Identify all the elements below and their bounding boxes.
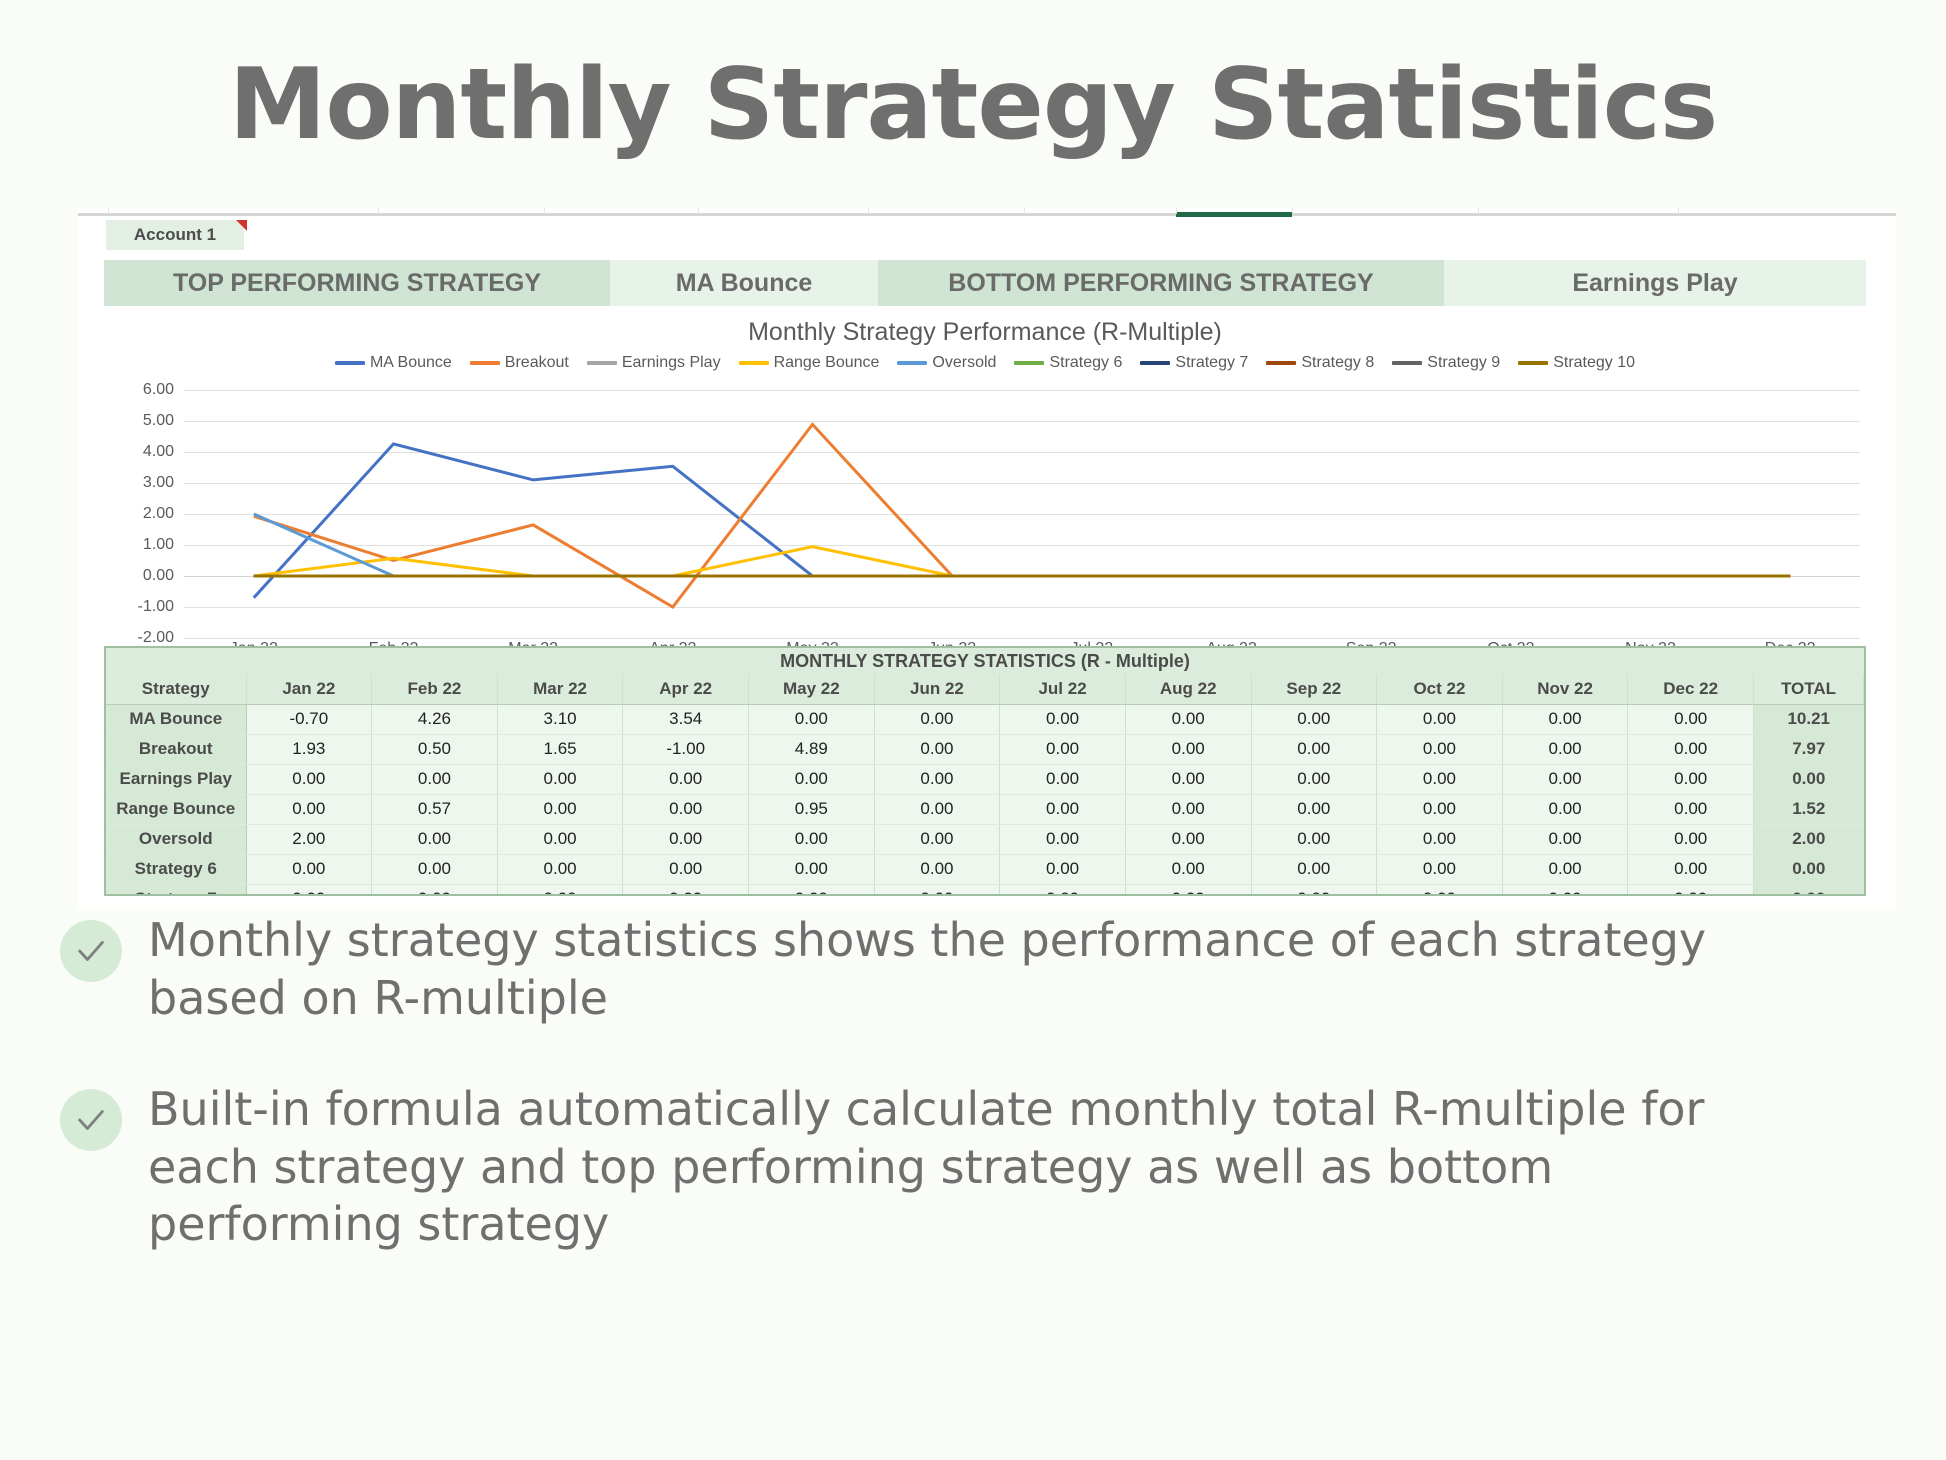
data-cell[interactable]: 0.00 xyxy=(1125,884,1251,896)
total-cell: 10.21 xyxy=(1754,704,1864,734)
data-cell[interactable]: 3.10 xyxy=(497,704,623,734)
legend-label: MA Bounce xyxy=(370,354,452,372)
bottom-performing-strategy-value: Earnings Play xyxy=(1444,260,1866,306)
data-cell[interactable]: 0.00 xyxy=(372,884,498,896)
data-cell[interactable]: 0.95 xyxy=(749,794,875,824)
strategy-performance-chart: Monthly Strategy Performance (R-Multiple… xyxy=(104,318,1866,636)
total-cell: 7.97 xyxy=(1754,734,1864,764)
data-cell[interactable]: 0.00 xyxy=(1502,704,1628,734)
legend-swatch-icon xyxy=(897,361,927,365)
y-tick-label: 3.00 xyxy=(143,474,174,492)
data-cell[interactable]: 0.00 xyxy=(1251,794,1377,824)
legend-label: Strategy 8 xyxy=(1301,354,1374,372)
row-header-cell: Earnings Play xyxy=(106,764,246,794)
data-cell[interactable]: 0.00 xyxy=(623,884,749,896)
table-row[interactable]: Strategy 60.000.000.000.000.000.000.000.… xyxy=(106,854,1864,884)
data-cell[interactable]: 0.00 xyxy=(874,854,1000,884)
bullet-text: Monthly strategy statistics shows the pe… xyxy=(148,912,1788,1027)
stats-table-banner: MONTHLY STRATEGY STATISTICS (R - Multipl… xyxy=(106,648,1864,674)
data-cell[interactable]: 0.00 xyxy=(874,884,1000,896)
data-cell[interactable]: 1.65 xyxy=(497,734,623,764)
legend-item-strategy-10: Strategy 10 xyxy=(1518,354,1635,372)
data-cell[interactable]: 0.00 xyxy=(1628,764,1754,794)
data-cell[interactable]: 0.00 xyxy=(1502,734,1628,764)
top-performing-strategy-value: MA Bounce xyxy=(610,260,878,306)
data-cell[interactable]: 0.00 xyxy=(1502,854,1628,884)
column-header[interactable]: Aug 22 xyxy=(1125,674,1251,704)
stats-grid: StrategyJan 22Feb 22Mar 22Apr 22May 22Ju… xyxy=(106,674,1864,896)
data-cell[interactable]: 0.00 xyxy=(1377,884,1503,896)
legend-swatch-icon xyxy=(1266,361,1296,365)
data-cell[interactable]: 0.00 xyxy=(623,824,749,854)
column-header[interactable]: Sep 22 xyxy=(1251,674,1377,704)
column-header[interactable]: Jul 22 xyxy=(1000,674,1126,704)
data-cell[interactable]: 0.00 xyxy=(246,884,372,896)
legend-item-oversold: Oversold xyxy=(897,354,996,372)
data-cell[interactable]: 0.00 xyxy=(1000,794,1126,824)
data-cell[interactable]: 0.00 xyxy=(623,794,749,824)
legend-label: Strategy 6 xyxy=(1049,354,1122,372)
data-cell[interactable]: 0.00 xyxy=(372,764,498,794)
data-cell[interactable]: 0.00 xyxy=(749,704,875,734)
legend-swatch-icon xyxy=(470,361,500,365)
table-row[interactable]: MA Bounce-0.704.263.103.540.000.000.000.… xyxy=(106,704,1864,734)
data-cell[interactable]: 0.00 xyxy=(1125,704,1251,734)
data-cell[interactable]: 4.26 xyxy=(372,704,498,734)
data-cell[interactable]: 0.00 xyxy=(874,764,1000,794)
row-header-cell: MA Bounce xyxy=(106,704,246,734)
data-cell[interactable]: 4.89 xyxy=(749,734,875,764)
data-cell[interactable]: 0.00 xyxy=(497,884,623,896)
row-header-cell: Strategy 7 xyxy=(106,884,246,896)
row-header-cell: Breakout xyxy=(106,734,246,764)
data-cell[interactable]: 0.00 xyxy=(1377,704,1503,734)
legend-label: Earnings Play xyxy=(622,354,721,372)
column-header[interactable]: May 22 xyxy=(749,674,875,704)
data-cell[interactable]: 0.00 xyxy=(372,854,498,884)
bottom-performing-strategy-label: BOTTOM PERFORMING STRATEGY xyxy=(878,260,1444,306)
total-cell: 1.52 xyxy=(1754,794,1864,824)
data-cell[interactable]: 0.00 xyxy=(1502,794,1628,824)
slide-root: Monthly Strategy Statistics Account 1 TO… xyxy=(0,0,1946,1460)
data-cell[interactable]: 0.00 xyxy=(1628,854,1754,884)
legend-label: Oversold xyxy=(932,354,996,372)
data-cell[interactable]: 0.00 xyxy=(1000,854,1126,884)
bullet-list: Monthly strategy statistics shows the pe… xyxy=(60,912,1890,1308)
data-cell[interactable]: 0.00 xyxy=(1000,824,1126,854)
data-cell[interactable]: 0.00 xyxy=(1628,884,1754,896)
legend-label: Strategy 10 xyxy=(1553,354,1635,372)
legend-item-earnings-play: Earnings Play xyxy=(587,354,721,372)
data-cell[interactable]: 0.00 xyxy=(874,734,1000,764)
data-cell[interactable]: 0.00 xyxy=(1125,734,1251,764)
legend-swatch-icon xyxy=(739,361,769,365)
legend-label: Range Bounce xyxy=(774,354,880,372)
table-header-row: StrategyJan 22Feb 22Mar 22Apr 22May 22Ju… xyxy=(106,674,1864,704)
column-header[interactable]: Jun 22 xyxy=(874,674,1000,704)
legend-label: Strategy 7 xyxy=(1175,354,1248,372)
chart-plot-area: 6.005.004.003.002.001.000.00-1.00-2.00 J… xyxy=(104,390,1866,638)
data-cell[interactable]: 0.00 xyxy=(246,794,372,824)
data-cell[interactable]: 0.00 xyxy=(1628,704,1754,734)
data-cell[interactable]: 0.00 xyxy=(1251,854,1377,884)
gridline xyxy=(184,638,1860,639)
legend-swatch-icon xyxy=(587,361,617,365)
data-cell[interactable]: 0.00 xyxy=(1377,824,1503,854)
legend-item-strategy-8: Strategy 8 xyxy=(1266,354,1374,372)
data-cell[interactable]: 0.00 xyxy=(1502,884,1628,896)
data-cell[interactable]: 0.00 xyxy=(1125,824,1251,854)
legend-item-strategy-6: Strategy 6 xyxy=(1014,354,1122,372)
chart-title: Monthly Strategy Performance (R-Multiple… xyxy=(104,318,1866,347)
spreadsheet-screenshot: Account 1 TOP PERFORMING STRATEGY MA Bou… xyxy=(78,208,1896,908)
column-header[interactable]: Jan 22 xyxy=(246,674,372,704)
data-cell[interactable]: 2.00 xyxy=(246,824,372,854)
data-cell[interactable]: -1.00 xyxy=(623,734,749,764)
data-cell[interactable]: 0.00 xyxy=(1251,704,1377,734)
data-cell[interactable]: 0.00 xyxy=(749,764,875,794)
column-header[interactable]: Strategy xyxy=(106,674,246,704)
legend-label: Breakout xyxy=(505,354,569,372)
data-cell[interactable]: 0.00 xyxy=(1377,854,1503,884)
data-cell[interactable]: 0.00 xyxy=(1251,764,1377,794)
data-cell[interactable]: 0.00 xyxy=(1377,794,1503,824)
data-cell[interactable]: 0.00 xyxy=(1000,734,1126,764)
column-header[interactable]: Nov 22 xyxy=(1502,674,1628,704)
bullet-text: Built-in formula automatically calculate… xyxy=(148,1081,1788,1254)
data-cell[interactable]: 0.00 xyxy=(246,764,372,794)
legend-swatch-icon xyxy=(1014,361,1044,365)
bullet-item: Built-in formula automatically calculate… xyxy=(60,1081,1890,1254)
data-cell[interactable]: 0.00 xyxy=(874,794,1000,824)
table-body: MA Bounce-0.704.263.103.540.000.000.000.… xyxy=(106,704,1864,896)
y-tick-label: 4.00 xyxy=(143,443,174,461)
legend-swatch-icon xyxy=(1140,361,1170,365)
data-cell[interactable]: 0.00 xyxy=(1628,734,1754,764)
column-header[interactable]: TOTAL xyxy=(1754,674,1864,704)
data-cell[interactable]: 0.00 xyxy=(749,824,875,854)
check-icon xyxy=(60,1089,122,1151)
legend-item-breakout: Breakout xyxy=(470,354,569,372)
monthly-strategy-statistics-table: MONTHLY STRATEGY STATISTICS (R - Multipl… xyxy=(104,646,1866,896)
row-header-cell: Oversold xyxy=(106,824,246,854)
top-performing-strategy-label: TOP PERFORMING STRATEGY xyxy=(104,260,610,306)
data-cell[interactable]: -0.70 xyxy=(246,704,372,734)
row-header-cell: Range Bounce xyxy=(106,794,246,824)
total-cell: 0.00 xyxy=(1754,764,1864,794)
data-cell[interactable]: 0.00 xyxy=(749,884,875,896)
kpi-banner-row: TOP PERFORMING STRATEGY MA Bounce BOTTOM… xyxy=(104,260,1866,306)
data-cell[interactable]: 0.00 xyxy=(1502,764,1628,794)
data-cell[interactable]: 0.00 xyxy=(1125,854,1251,884)
data-cell[interactable]: 0.00 xyxy=(1377,764,1503,794)
data-cell[interactable]: 0.00 xyxy=(1628,824,1754,854)
data-cell[interactable]: 0.57 xyxy=(372,794,498,824)
chart-lines xyxy=(184,390,1860,638)
y-tick-label: 5.00 xyxy=(143,412,174,430)
chart-legend: MA BounceBreakoutEarnings PlayRange Boun… xyxy=(104,354,1866,372)
data-cell[interactable]: 0.00 xyxy=(1502,824,1628,854)
data-cell[interactable]: 0.00 xyxy=(1000,704,1126,734)
total-cell: 0.00 xyxy=(1754,884,1864,896)
page-title: Monthly Strategy Statistics xyxy=(0,48,1946,162)
y-tick-label: 1.00 xyxy=(143,536,174,554)
data-cell[interactable]: 1.93 xyxy=(246,734,372,764)
data-cell[interactable]: 0.00 xyxy=(497,794,623,824)
sheet-column-ticks xyxy=(78,208,1896,214)
account-tab[interactable]: Account 1 xyxy=(106,220,244,250)
table-row[interactable]: Strategy 70.000.000.000.000.000.000.000.… xyxy=(106,884,1864,896)
legend-item-strategy-7: Strategy 7 xyxy=(1140,354,1248,372)
table-row[interactable]: Oversold2.000.000.000.000.000.000.000.00… xyxy=(106,824,1864,854)
column-header[interactable]: Apr 22 xyxy=(623,674,749,704)
data-cell[interactable]: 0.00 xyxy=(372,824,498,854)
data-cell[interactable]: 0.50 xyxy=(372,734,498,764)
data-cell[interactable]: 0.00 xyxy=(623,764,749,794)
legend-item-range-bounce: Range Bounce xyxy=(739,354,880,372)
series-line-oversold xyxy=(254,514,1790,576)
data-cell[interactable]: 0.00 xyxy=(246,854,372,884)
legend-item-strategy-9: Strategy 9 xyxy=(1392,354,1500,372)
y-tick-label: -2.00 xyxy=(138,629,174,647)
legend-swatch-icon xyxy=(1518,361,1548,365)
y-axis-tick-labels: 6.005.004.003.002.001.000.00-1.00-2.00 xyxy=(104,390,180,638)
table-row[interactable]: Range Bounce0.000.570.000.000.950.000.00… xyxy=(106,794,1864,824)
comment-flag-icon xyxy=(236,220,247,231)
data-cell[interactable]: 0.00 xyxy=(874,704,1000,734)
check-icon xyxy=(60,920,122,982)
y-tick-label: 0.00 xyxy=(143,567,174,585)
legend-item-ma-bounce: MA Bounce xyxy=(335,354,452,372)
bullet-item: Monthly strategy statistics shows the pe… xyxy=(60,912,1890,1027)
legend-label: Strategy 9 xyxy=(1427,354,1500,372)
column-header[interactable]: Dec 22 xyxy=(1628,674,1754,704)
series-line-range-bounce xyxy=(254,547,1790,576)
data-cell[interactable]: 0.00 xyxy=(1251,734,1377,764)
data-cell[interactable]: 0.00 xyxy=(1125,794,1251,824)
data-cell[interactable]: 0.00 xyxy=(1628,794,1754,824)
table-row[interactable]: Breakout1.930.501.65-1.004.890.000.000.0… xyxy=(106,734,1864,764)
data-cell[interactable]: 0.00 xyxy=(749,854,875,884)
data-cell[interactable]: 0.00 xyxy=(1251,824,1377,854)
data-cell[interactable]: 0.00 xyxy=(874,824,1000,854)
y-tick-label: -1.00 xyxy=(138,598,174,616)
data-cell[interactable]: 0.00 xyxy=(1377,734,1503,764)
data-cell[interactable]: 0.00 xyxy=(1000,884,1126,896)
y-tick-label: 2.00 xyxy=(143,505,174,523)
legend-swatch-icon xyxy=(1392,361,1422,365)
column-header[interactable]: Feb 22 xyxy=(372,674,498,704)
data-cell[interactable]: 0.00 xyxy=(497,854,623,884)
y-tick-label: 6.00 xyxy=(143,381,174,399)
series-line-breakout xyxy=(254,424,1790,607)
total-cell: 2.00 xyxy=(1754,824,1864,854)
data-cell[interactable]: 0.00 xyxy=(497,764,623,794)
column-header[interactable]: Oct 22 xyxy=(1377,674,1503,704)
total-cell: 0.00 xyxy=(1754,854,1864,884)
data-cell[interactable]: 0.00 xyxy=(1251,884,1377,896)
legend-swatch-icon xyxy=(335,361,365,365)
data-cell[interactable]: 0.00 xyxy=(497,824,623,854)
data-cell[interactable]: 0.00 xyxy=(1125,764,1251,794)
row-header-cell: Strategy 6 xyxy=(106,854,246,884)
data-cell[interactable]: 0.00 xyxy=(1000,764,1126,794)
table-row[interactable]: Earnings Play0.000.000.000.000.000.000.0… xyxy=(106,764,1864,794)
data-cell[interactable]: 3.54 xyxy=(623,704,749,734)
column-header[interactable]: Mar 22 xyxy=(497,674,623,704)
data-cell[interactable]: 0.00 xyxy=(623,854,749,884)
